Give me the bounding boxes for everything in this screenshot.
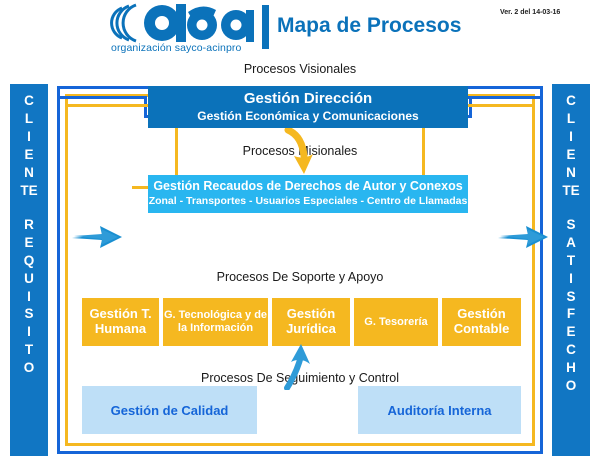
page-title: Mapa de Procesos	[277, 14, 461, 38]
curved-arrow-down-icon	[280, 128, 326, 178]
direccion-subtitle: Gestión Económica y Comunicaciones	[148, 109, 468, 124]
support-box-gestion-t-humana[interactable]: Gestión T. Humana	[82, 298, 159, 346]
connector-orange-left-vert	[65, 104, 68, 134]
control-box-gestion-de-calidad[interactable]: Gestión de Calidad	[82, 386, 257, 434]
version-label: Ver. 2 del 14-03-16	[500, 9, 560, 16]
connector-orange-left-cap	[132, 186, 135, 189]
curved-arrow-up-icon	[277, 344, 317, 390]
logo-divider-bar	[262, 5, 269, 49]
logo-tagline: organización sayco-acinpro	[111, 42, 241, 54]
arrow-right-icon-output	[498, 222, 550, 252]
osa-logo: organización sayco-acinpro	[110, 2, 260, 57]
arrow-right-icon-input	[72, 222, 124, 252]
osa-logo-mark	[110, 2, 260, 44]
misionales-title: Gestión Recaudos de Derechos de Autor y …	[148, 179, 468, 195]
connector-blue-left-top	[57, 96, 147, 99]
support-box-g-tesoreria[interactable]: G. Tesorería	[354, 298, 438, 346]
connector-blue-left-vert	[57, 86, 60, 112]
connector-blue-right-vert	[540, 86, 543, 112]
process-box-gestion-direccion[interactable]: Gestión Dirección Gestión Económica y Co…	[148, 86, 468, 128]
band-label-soporte: Procesos De Soporte y Apoyo	[0, 270, 600, 284]
band-label-visionales: Procesos Visionales	[0, 62, 600, 76]
client-left-word2: REQUISITO	[10, 216, 48, 378]
direccion-title: Gestión Dirección	[148, 90, 468, 109]
control-box-auditoria-interna[interactable]: Auditoría Interna	[358, 386, 521, 434]
support-box-gestion-contable[interactable]: Gestión Contable	[442, 298, 521, 346]
misionales-subtitle: Zonal - Transportes - Usuarios Especiale…	[148, 195, 468, 209]
client-right-word2: SATISFECHO	[552, 216, 590, 396]
support-box-g-tecnologica[interactable]: G. Tecnológica y de la Información	[163, 298, 268, 346]
support-box-gestion-juridica[interactable]: Gestión Jurídica	[272, 298, 350, 346]
page-header: organización sayco-acinpro Mapa de Proce…	[0, 0, 600, 62]
process-box-gestion-recaudos[interactable]: Gestión Recaudos de Derechos de Autor y …	[148, 175, 468, 213]
connector-orange-right-vert	[532, 104, 535, 134]
